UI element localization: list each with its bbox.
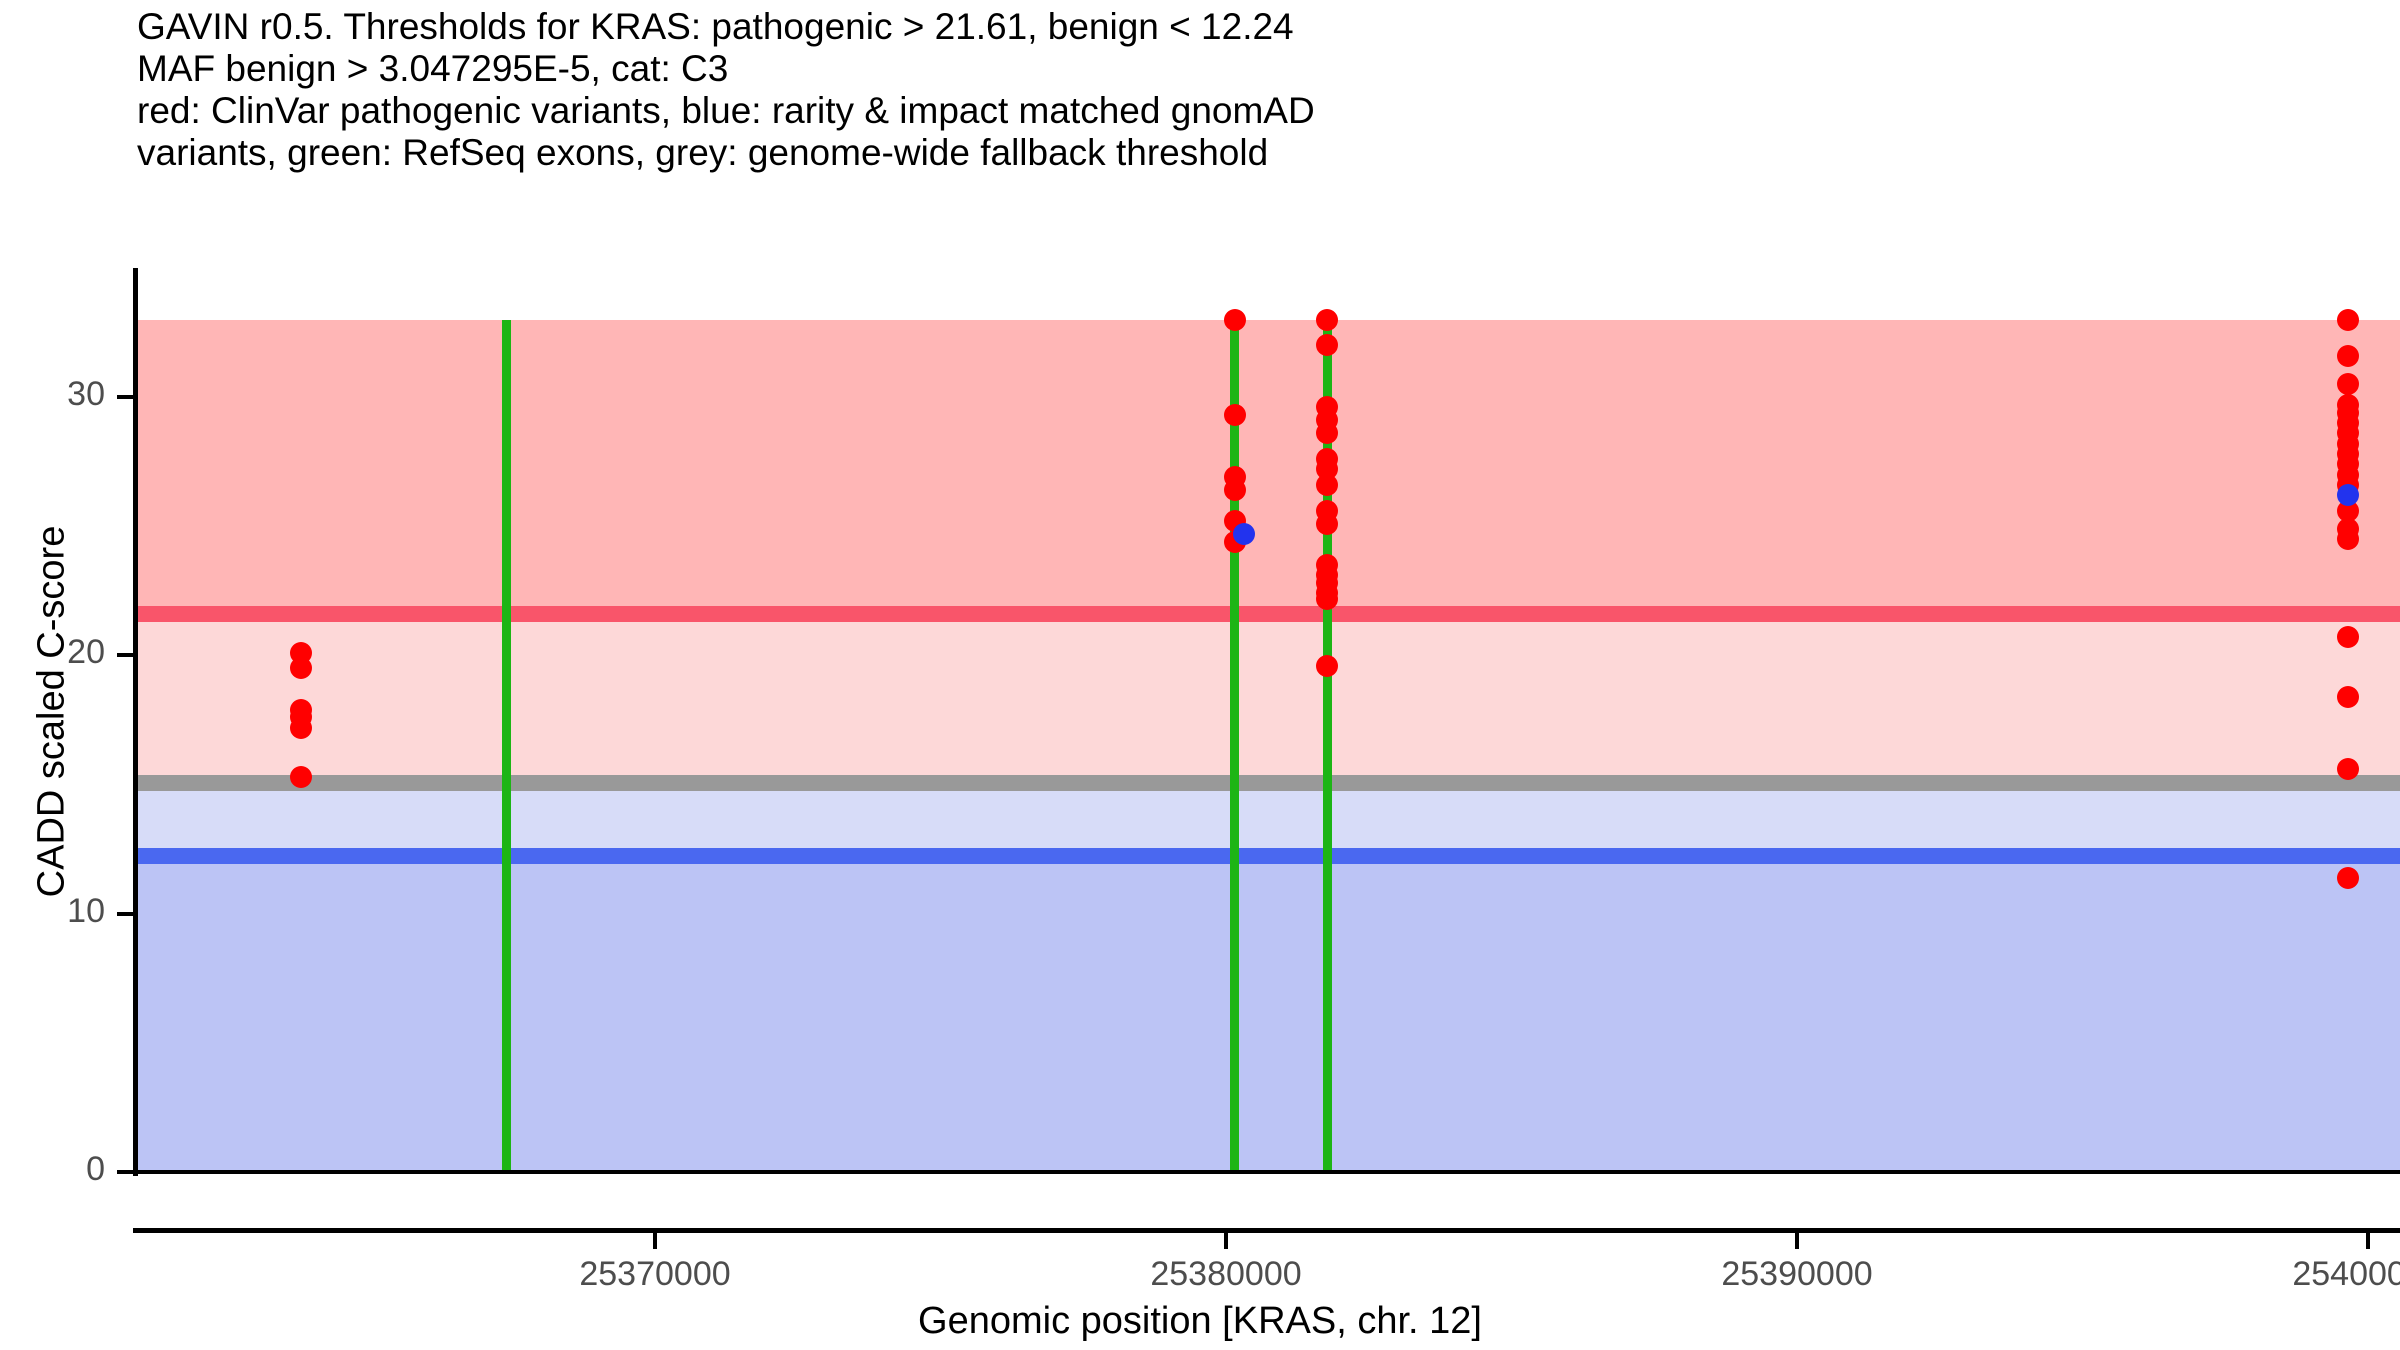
clinvar-variant-point: [1316, 474, 1338, 496]
plot-panel: [137, 272, 2400, 1172]
clinvar-variant-point: [2337, 686, 2359, 708]
x-axis-tick-mark: [1224, 1233, 1228, 1249]
y-axis-tick-mark: [117, 1170, 133, 1174]
clinvar-variant-point: [2337, 309, 2359, 331]
x-axis-tick-label: 25400000: [2258, 1255, 2400, 1294]
y-axis-tick-label: 0: [0, 1150, 105, 1189]
clinvar-variant-point: [1224, 479, 1246, 501]
clinvar-variant-point: [1316, 513, 1338, 535]
x-axis-tick-label: 25380000: [1116, 1255, 1336, 1294]
title-line-4: variants, green: RefSeq exons, grey: gen…: [137, 132, 2337, 174]
chart-root: GAVIN r0.5. Thresholds for KRAS: pathoge…: [0, 0, 2400, 1350]
clinvar-variant-point: [1316, 309, 1338, 331]
clinvar-variant-point: [1316, 422, 1338, 444]
clinvar-variant-point: [2337, 626, 2359, 648]
x-axis-tick-label: 25370000: [545, 1255, 765, 1294]
clinvar-variant-point: [290, 657, 312, 679]
gnomad-variant-point: [2337, 484, 2359, 506]
y-axis-tick-mark: [117, 912, 133, 916]
gnomad-variant-point: [1233, 523, 1255, 545]
title-line-1: GAVIN r0.5. Thresholds for KRAS: pathoge…: [137, 6, 2337, 48]
clinvar-variant-point: [1316, 655, 1338, 677]
clinvar-variant-point: [2337, 758, 2359, 780]
clinvar-variant-point: [2337, 528, 2359, 550]
x-axis-title: Genomic position [KRAS, chr. 12]: [0, 1300, 2400, 1343]
clinvar-variant-point: [1316, 334, 1338, 356]
y-axis-line: [133, 268, 138, 1176]
variant-point-layer: [137, 272, 2400, 1172]
panel-bottom-line: [133, 1170, 2400, 1174]
chart-title-block: GAVIN r0.5. Thresholds for KRAS: pathoge…: [137, 6, 2337, 174]
title-line-2: MAF benign > 3.047295E-5, cat: C3: [137, 48, 2337, 90]
y-axis-tick-mark: [117, 653, 133, 657]
y-axis-title: CADD scaled C-score: [31, 302, 74, 1122]
clinvar-variant-point: [2337, 373, 2359, 395]
x-axis-tick-mark: [1795, 1233, 1799, 1249]
clinvar-variant-point: [2337, 345, 2359, 367]
clinvar-variant-point: [1224, 309, 1246, 331]
clinvar-variant-point: [1316, 588, 1338, 610]
clinvar-variant-point: [2337, 867, 2359, 889]
clinvar-variant-point: [290, 766, 312, 788]
x-axis-tick-label: 25390000: [1687, 1255, 1907, 1294]
title-line-3: red: ClinVar pathogenic variants, blue: …: [137, 90, 2337, 132]
clinvar-variant-point: [290, 717, 312, 739]
x-axis-tick-mark: [2366, 1233, 2370, 1249]
x-axis-line: [133, 1228, 2400, 1233]
x-axis-tick-mark: [653, 1233, 657, 1249]
y-axis-tick-mark: [117, 395, 133, 399]
clinvar-variant-point: [1224, 404, 1246, 426]
